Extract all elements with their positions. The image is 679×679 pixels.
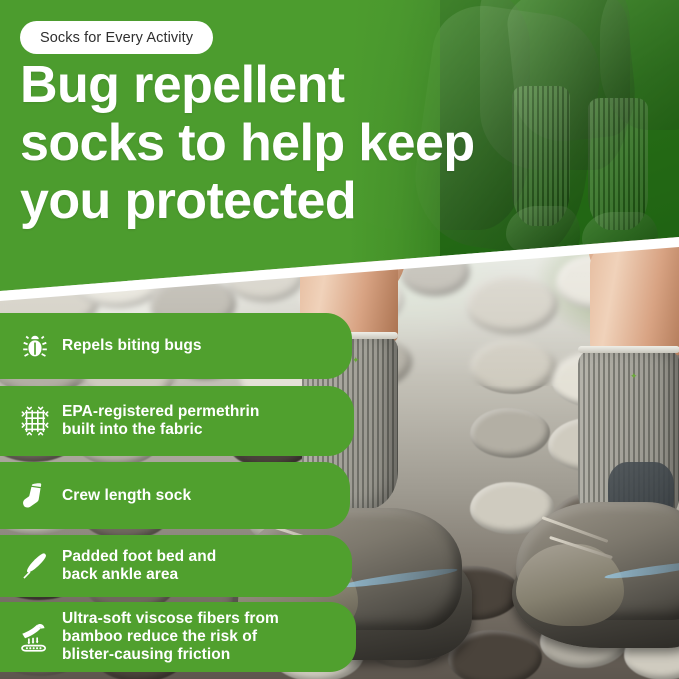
feature-item-viscose-bamboo: Ultra-soft viscose fibers from bamboo re… <box>0 602 356 672</box>
feather-icon <box>8 551 62 581</box>
feature-line: EPA-registered permethrin <box>62 403 259 421</box>
feature-text: Crew length sock <box>62 487 205 505</box>
feature-line: Crew length sock <box>62 487 191 505</box>
fabric-weave-icon <box>8 406 62 436</box>
feature-list: Repels biting bugs EPA-registered permet… <box>0 0 380 679</box>
feature-item-repels-bugs: Repels biting bugs <box>0 313 352 379</box>
feature-line: built into the fabric <box>62 421 259 439</box>
feature-text: Repels biting bugs <box>62 337 216 355</box>
product-infographic: ✦ ✦ <box>0 0 679 679</box>
feature-item-padded: Padded foot bed and back ankle area <box>0 535 352 597</box>
feature-line: bamboo reduce the risk of <box>62 628 279 646</box>
bug-icon <box>8 331 62 361</box>
feature-line: Ultra-soft viscose fibers from <box>62 610 279 628</box>
feature-line: Padded foot bed and <box>62 548 216 566</box>
cushion-friction-icon <box>8 621 62 653</box>
crew-sock-icon <box>8 481 62 511</box>
feature-line: blister-causing friction <box>62 646 279 664</box>
feature-item-crew-length: Crew length sock <box>0 462 350 529</box>
feature-item-permethrin: EPA-registered permethrin built into the… <box>0 386 354 456</box>
feature-text: EPA-registered permethrin built into the… <box>62 403 273 439</box>
feature-line: back ankle area <box>62 566 216 584</box>
feature-text: Padded foot bed and back ankle area <box>62 548 230 584</box>
feature-line: Repels biting bugs <box>62 337 202 355</box>
feature-text: Ultra-soft viscose fibers from bamboo re… <box>62 610 293 664</box>
